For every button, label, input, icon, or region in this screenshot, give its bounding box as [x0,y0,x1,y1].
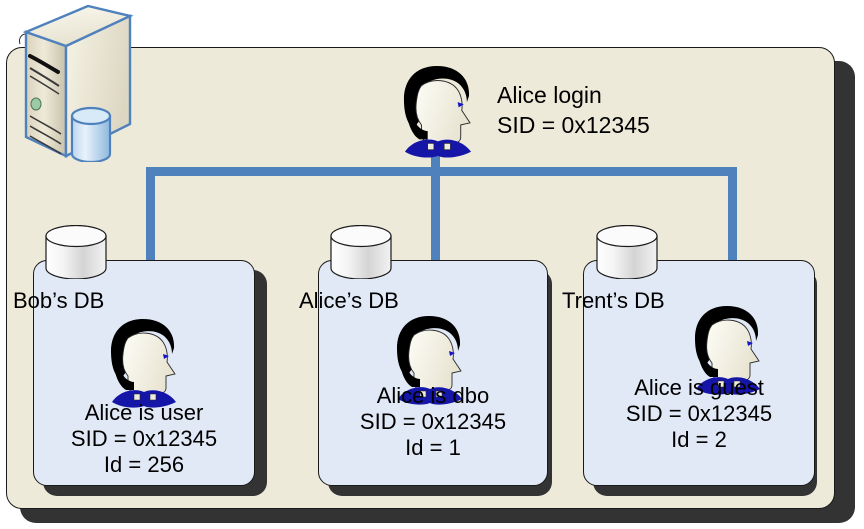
diagram-canvas: Bob’s DB Alice’s DB Trent’s DB [0,0,864,529]
role-label-3: Alice is guest [583,375,815,401]
person-head-icon-login [398,65,478,160]
connector-horizontal-bus [146,167,737,176]
sid-label-1: SID = 0x12345 [33,426,255,452]
login-caption: Alice login SID = 0x12345 [497,80,650,140]
person-head-icon-db1 [106,318,182,410]
login-sid-label: SID = 0x12345 [497,110,650,140]
database-cylinder-icon-2 [330,225,392,279]
id-label-3: Id = 2 [583,427,815,453]
db-caption-2: Alice is dbo SID = 0x12345 Id = 1 [318,383,548,461]
db-label-bobs-db: Bob’s DB [13,288,104,314]
server-database-icon [72,108,110,162]
role-label-2: Alice is dbo [318,383,548,409]
id-label-2: Id = 1 [318,435,548,461]
database-cylinder-icon-3 [596,225,658,279]
db-label-trents-db: Trent’s DB [562,288,665,314]
id-label-1: Id = 256 [33,452,255,478]
db-caption-3: Alice is guest SID = 0x12345 Id = 2 [583,375,815,453]
login-name-label: Alice login [497,80,650,110]
server-tower-icon [4,4,136,162]
sid-label-3: SID = 0x12345 [583,401,815,427]
db-label-alices-db: Alice’s DB [299,288,399,314]
role-label-1: Alice is user [33,400,255,426]
db-caption-1: Alice is user SID = 0x12345 Id = 256 [33,400,255,478]
sid-label-2: SID = 0x12345 [318,409,548,435]
database-cylinder-icon-1 [45,225,107,279]
